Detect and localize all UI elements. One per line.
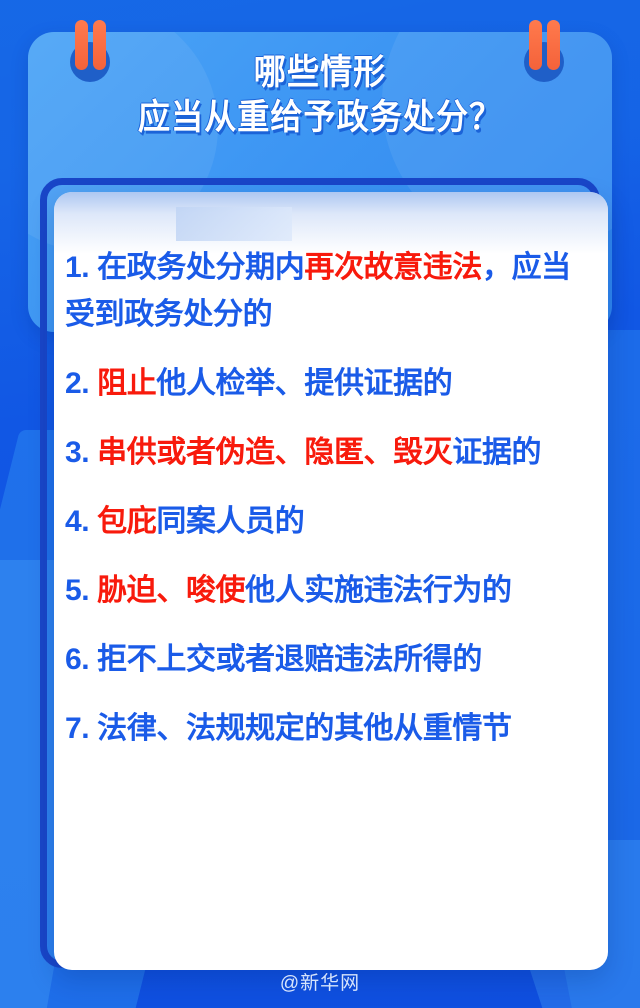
poster-root: 哪些情形 应当从重给予政务处分？ 1. 在政务处分期内再次故意违法，应当受到政务…	[0, 0, 640, 1008]
clip-bar-icon	[529, 20, 542, 70]
list-item-number: 7.	[65, 712, 97, 745]
list-item-text: 法律、法规规定的其他从重情节	[97, 712, 511, 745]
list-item-text: 他人检举、提供证据的	[156, 367, 452, 400]
highlighted-text: 胁迫、唆使	[97, 574, 245, 607]
binder-clip-right	[516, 20, 572, 98]
list-item-number: 2.	[65, 367, 97, 400]
list-item-text: 同案人员的	[156, 505, 304, 538]
highlighted-text: 串供或者伪造、隐匿、毁灭	[97, 436, 452, 469]
list-item: 5. 胁迫、唆使他人实施违法行为的	[65, 567, 596, 614]
content-card: 1. 在政务处分期内再次故意违法，应当受到政务处分的2. 阻止他人检举、提供证据…	[54, 192, 608, 970]
list-item: 2. 阻止他人检举、提供证据的	[65, 360, 596, 407]
list-item-number: 1.	[65, 251, 97, 284]
highlighted-text: 包庇	[97, 505, 156, 538]
list-item: 6. 拒不上交或者退赔违法所得的	[65, 636, 596, 683]
list-item-text: 在政务处分期内	[97, 251, 304, 284]
highlighted-text: 阻止	[97, 367, 156, 400]
list-item-number: 5.	[65, 574, 97, 607]
highlighted-text: 再次故意违法	[304, 251, 482, 284]
list-item: 7. 法律、法规规定的其他从重情节	[65, 705, 596, 752]
title-line-2: 应当从重给予政务处分？	[26, 95, 615, 140]
list-item-number: 3.	[65, 436, 97, 469]
list-item: 3. 串供或者伪造、隐匿、毁灭证据的	[65, 429, 596, 476]
card-ghost-block	[176, 207, 292, 241]
clip-bar-icon	[75, 20, 88, 70]
list-item-number: 4.	[65, 505, 97, 538]
binder-clip-left	[62, 20, 118, 98]
clip-bar-icon	[93, 20, 106, 70]
provision-list: 1. 在政务处分期内再次故意违法，应当受到政务处分的2. 阻止他人检举、提供证据…	[54, 244, 608, 752]
watermark: @新华网	[0, 968, 640, 995]
list-item: 4. 包庇同案人员的	[65, 498, 596, 545]
list-item-number: 6.	[65, 643, 97, 676]
list-item-text: 他人实施违法行为的	[245, 574, 511, 607]
list-item-text: 拒不上交或者退赔违法所得的	[97, 643, 482, 676]
list-item-text: 证据的	[452, 436, 541, 469]
clip-bar-icon	[547, 20, 560, 70]
list-item: 1. 在政务处分期内再次故意违法，应当受到政务处分的	[65, 244, 596, 338]
